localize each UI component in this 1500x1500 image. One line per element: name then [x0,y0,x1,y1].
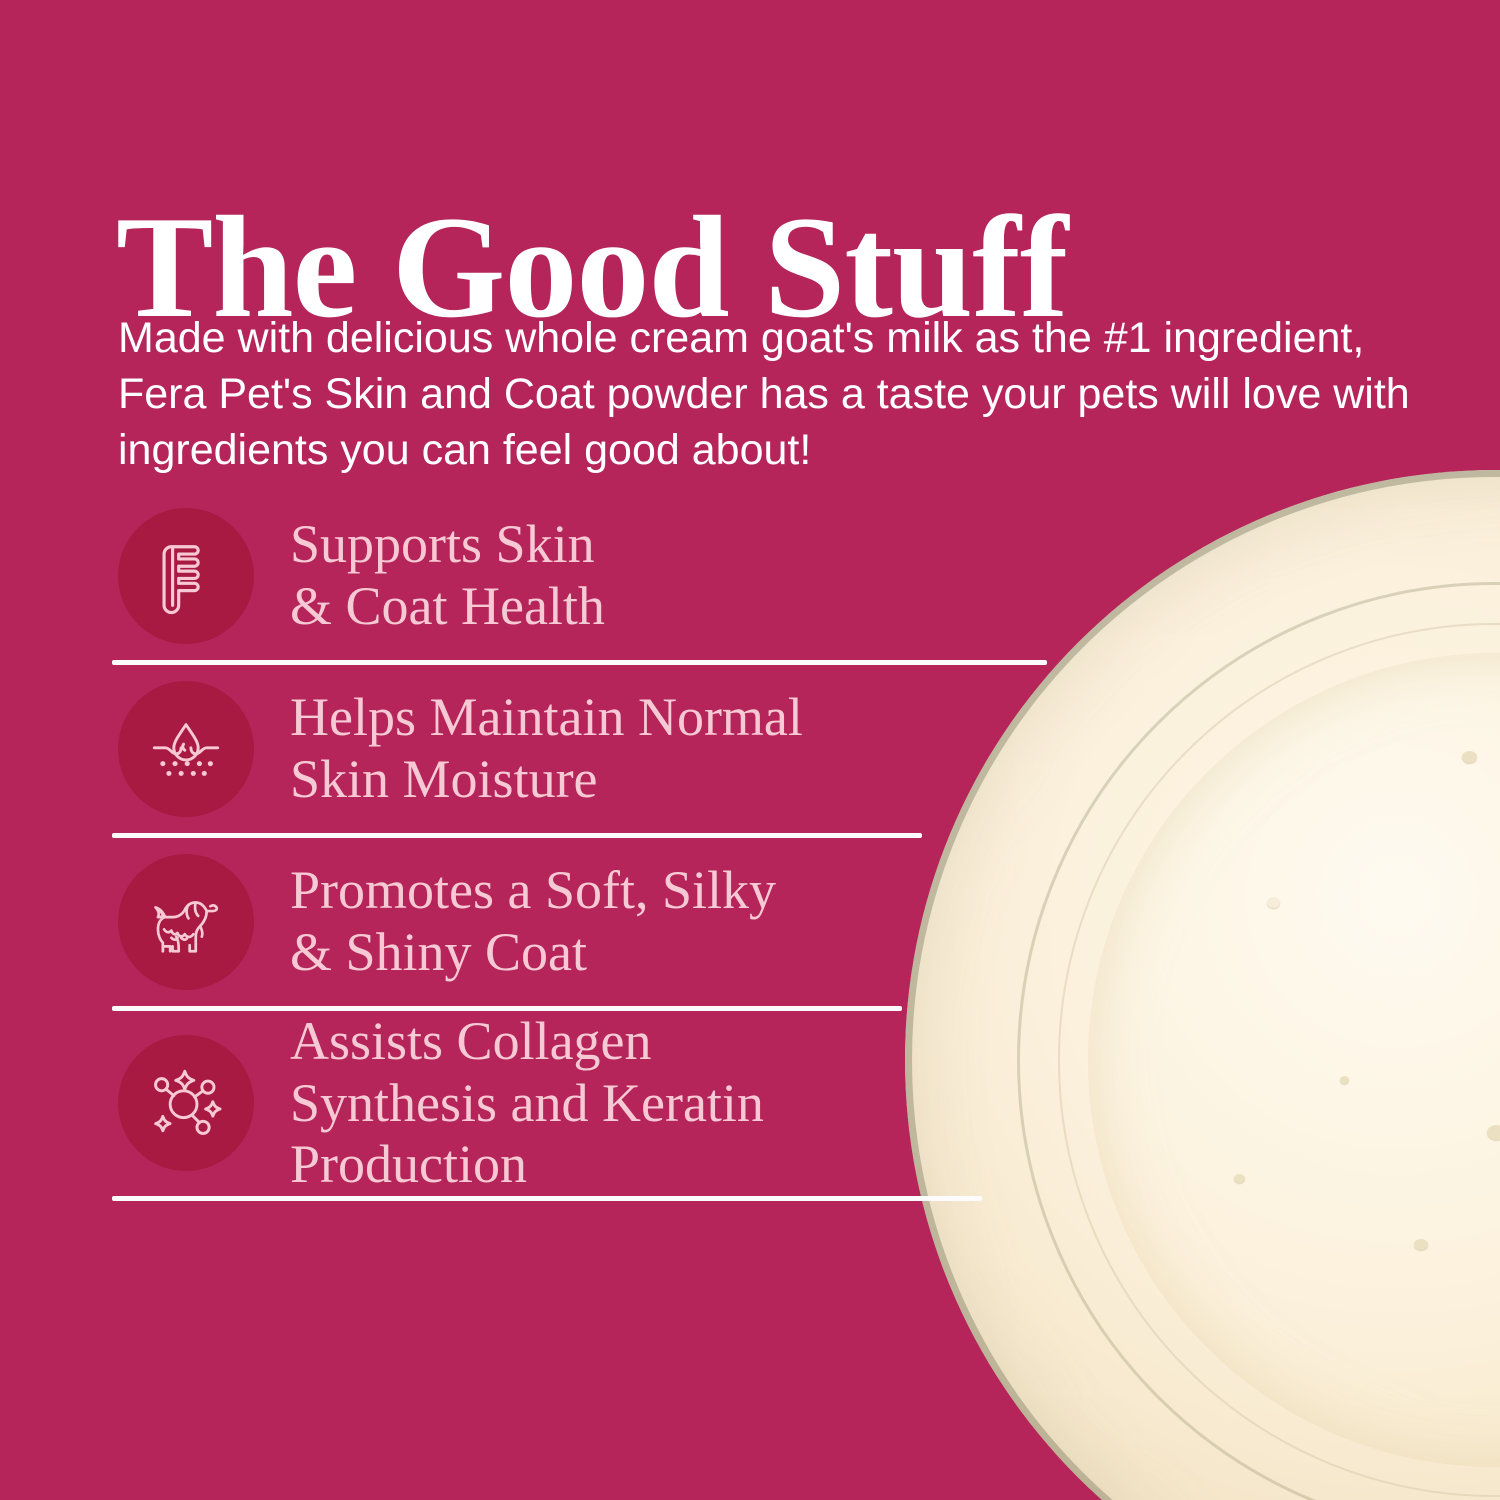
skin-moisture-droplet-icon [118,681,254,817]
benefit-row-skin-coat-health: Supports Skin & Coat Health [0,492,1500,660]
product-benefits-infographic: The Good Stuff Made with delicious whole… [0,0,1500,1500]
powder-speck [1414,1239,1428,1250]
intro-paragraph: Made with delicious whole cream goat's m… [118,311,1418,479]
benefit-row-collagen-keratin: Assists Collagen Synthesis and Keratin P… [0,1011,1500,1196]
benefit-label: Supports Skin & Coat Health [290,514,605,637]
benefits-list: Supports Skin & Coat Health [0,492,1500,1201]
benefit-divider [112,1196,982,1201]
comb-icon [118,508,254,644]
benefit-row-skin-moisture: Helps Maintain Normal Skin Moisture [0,665,1500,833]
dog-icon [118,854,254,990]
benefit-label: Promotes a Soft, Silky & Shiny Coat [290,860,776,983]
molecule-sparkle-icon [118,1035,254,1171]
benefit-label: Assists Collagen Synthesis and Keratin P… [290,1011,764,1196]
benefit-label: Helps Maintain Normal Skin Moisture [290,687,803,810]
benefit-row-shiny-coat: Promotes a Soft, Silky & Shiny Coat [0,838,1500,1006]
